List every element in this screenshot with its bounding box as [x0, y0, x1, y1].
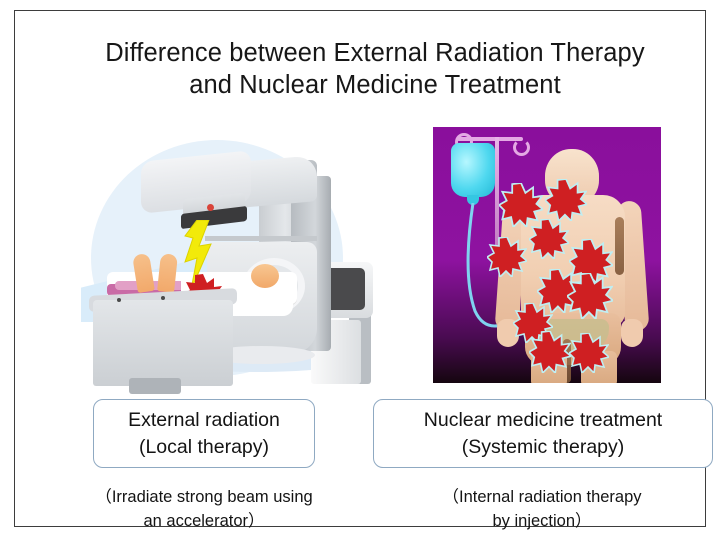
caption-line-1: Nuclear medicine treatment	[424, 407, 662, 434]
external-radiation-caption-box: External radiation (Local therapy)	[93, 399, 315, 468]
metastasis-burst-icon	[569, 333, 609, 373]
nuclear-medicine-caption-box: Nuclear medicine treatment (Systemic the…	[373, 399, 713, 468]
subcaption-line-1: （Internal radiation therapy	[383, 485, 701, 509]
caption-line-1: External radiation	[128, 407, 280, 434]
title-line-1: Difference between External Radiation Th…	[55, 37, 695, 69]
humerus-bone	[615, 217, 624, 275]
slide-page: Difference between External Radiation Th…	[0, 0, 720, 539]
metastasis-burst-icon	[487, 237, 527, 277]
metastasis-burst-icon	[529, 219, 569, 259]
table-base-dot	[161, 296, 165, 300]
gantry-rail	[205, 236, 317, 241]
patient-leg-right	[157, 253, 178, 293]
title-line-2: and Nuclear Medicine Treatment	[55, 69, 695, 101]
subcaption-line-2: an accelerator）	[73, 509, 335, 533]
table-base-dot	[117, 298, 121, 302]
metastasis-burst-icon	[529, 331, 571, 373]
table-base	[93, 300, 233, 386]
caption-line-2: (Systemic therapy)	[462, 434, 625, 461]
page-title: Difference between External Radiation Th…	[55, 37, 695, 101]
metastasis-burst-icon	[545, 179, 587, 221]
subcaption-line-2: by injection）	[383, 509, 701, 533]
caption-line-2: (Local therapy)	[139, 434, 269, 461]
subcaption-line-1: （Irradiate strong beam using	[73, 485, 335, 509]
nuclear-medicine-illustration	[433, 127, 661, 383]
patient-head	[251, 264, 279, 288]
table-base-foot	[129, 378, 181, 394]
patient-leg-left	[132, 253, 155, 293]
indicator-lamp-icon	[207, 204, 214, 211]
metastasis-burst-icon	[567, 273, 613, 319]
external-radiation-illustration	[55, 124, 385, 392]
nuclear-medicine-subcaption: （Internal radiation therapy by injection…	[383, 485, 701, 533]
slide-frame: Difference between External Radiation Th…	[14, 10, 706, 527]
patient-hand-right	[621, 319, 643, 347]
external-radiation-subcaption: （Irradiate strong beam using an accelera…	[73, 485, 335, 533]
